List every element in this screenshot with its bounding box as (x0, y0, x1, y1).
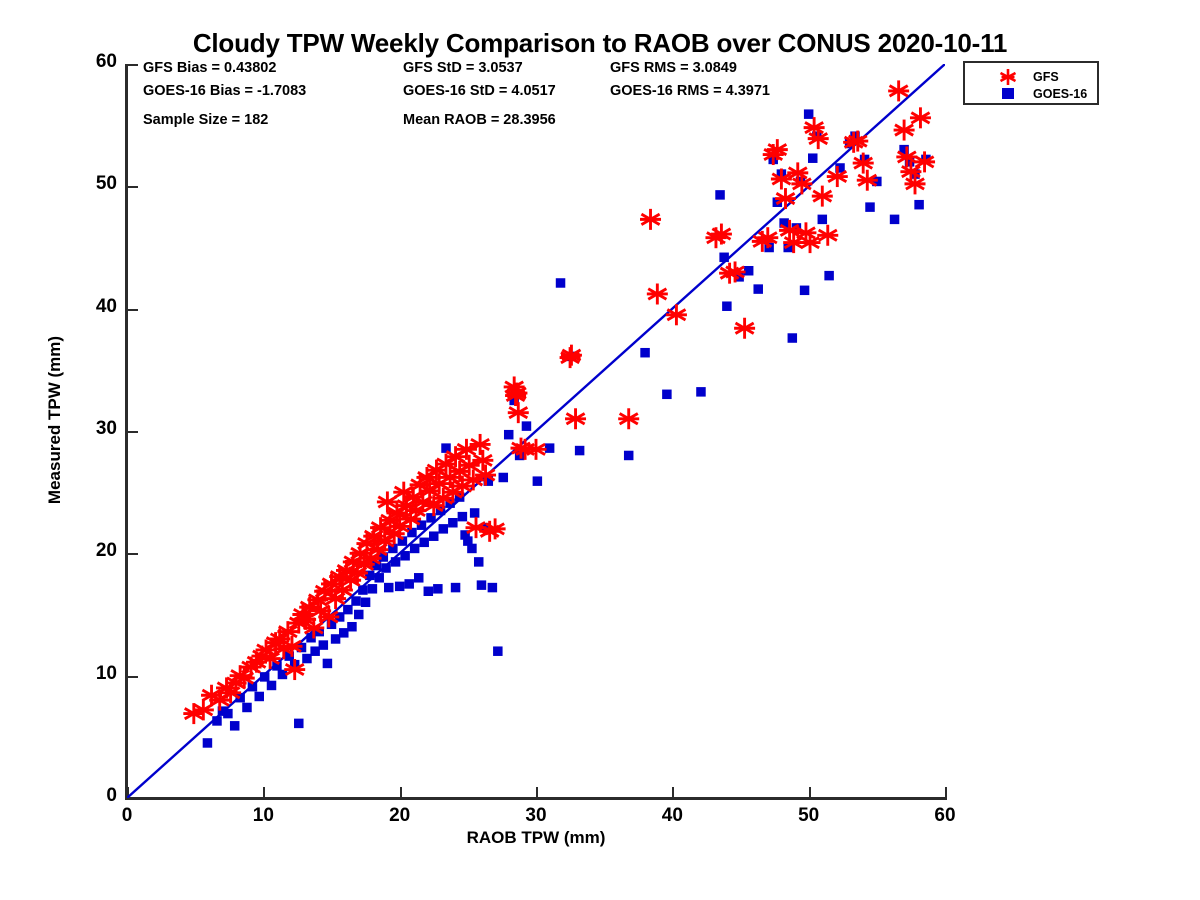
data-point-square (331, 634, 341, 644)
data-point-square (696, 387, 706, 397)
data-point-square (824, 271, 834, 281)
data-point-square (384, 583, 394, 593)
data-point-square (381, 563, 391, 573)
data-point-square (753, 284, 763, 294)
data-point-square (556, 278, 566, 288)
data-point-square (800, 286, 810, 296)
data-point-square (477, 580, 487, 590)
data-point-square (242, 703, 252, 713)
data-point-square (319, 640, 329, 650)
data-point-square (361, 598, 371, 608)
legend-marker-gfs (997, 67, 1019, 87)
data-point-square (448, 518, 458, 528)
data-point-square (294, 719, 304, 729)
y-tick-label: 0 (62, 785, 117, 807)
y-tick-label: 50 (62, 173, 117, 195)
data-point-square (715, 190, 725, 200)
data-point-square (368, 584, 378, 594)
data-point-square (722, 301, 732, 311)
y-axis-label: Measured TPW (mm) (45, 270, 65, 570)
data-point-square (439, 524, 449, 534)
data-point-square (624, 451, 634, 461)
data-point-square (414, 573, 424, 583)
data-point-square (499, 473, 509, 483)
data-point-square (719, 253, 729, 263)
chart-figure: Cloudy TPW Weekly Comparison to RAOB ove… (0, 0, 1200, 900)
chart-title: Cloudy TPW Weekly Comparison to RAOB ove… (0, 28, 1200, 59)
data-point-square (400, 551, 410, 561)
y-tick-label: 20 (62, 540, 117, 562)
data-point-square (458, 512, 468, 521)
data-point-square (410, 544, 420, 554)
data-point-square (351, 596, 361, 606)
data-point-square (212, 716, 222, 726)
data-point-square (358, 585, 368, 595)
data-point-square (424, 587, 434, 597)
x-tick-label: 30 (506, 805, 566, 827)
data-point-square (451, 583, 461, 593)
scatter-plot-canvas (127, 64, 945, 798)
legend-marker-goes16 (997, 86, 1019, 102)
x-tick-label: 50 (779, 805, 839, 827)
x-tick-label: 10 (233, 805, 293, 827)
data-point-square (223, 709, 233, 719)
data-point-square (395, 582, 405, 592)
data-point-square (354, 610, 364, 620)
x-tick (945, 787, 947, 798)
data-point-square (504, 430, 514, 440)
data-point-square (433, 584, 443, 594)
x-tick-label: 40 (642, 805, 702, 827)
data-point-square (788, 333, 798, 343)
data-point-square (254, 692, 264, 702)
data-point-square (522, 421, 532, 431)
data-point-square (323, 659, 333, 669)
data-point-square (533, 476, 543, 486)
x-tick-label: 20 (370, 805, 430, 827)
data-point-square (865, 202, 875, 212)
data-point-square (914, 200, 924, 210)
x-tick-label: 60 (915, 805, 975, 827)
data-point-square (662, 390, 672, 400)
y-tick-label: 30 (62, 418, 117, 440)
data-point-square (391, 557, 401, 567)
data-point-square (493, 646, 503, 656)
y-tick-label: 10 (62, 663, 117, 685)
data-point-square (347, 622, 357, 632)
y-tick-label: 40 (62, 296, 117, 318)
data-point-square (890, 215, 900, 225)
chart-legend: GFS GOES-16 (963, 61, 1099, 105)
data-point-square (343, 605, 353, 615)
series-gfs (183, 80, 935, 724)
data-point-square (804, 109, 814, 119)
data-point-square (474, 557, 484, 567)
data-point-square (419, 538, 429, 548)
data-point-square (260, 672, 270, 682)
data-point-square (374, 573, 384, 583)
data-point-square (230, 721, 240, 731)
data-point-square (267, 681, 277, 691)
y-tick-label: 60 (62, 51, 117, 73)
data-point-square (818, 215, 828, 225)
legend-label-gfs: GFS (1033, 70, 1059, 84)
x-axis-label: RAOB TPW (mm) (127, 828, 945, 848)
scatter-plot-area (127, 64, 945, 798)
data-point-square (467, 544, 477, 554)
data-point-square (470, 508, 480, 518)
x-tick-label: 0 (97, 805, 157, 827)
data-point-square (575, 446, 585, 456)
data-point-square (429, 531, 439, 541)
data-point-square (640, 348, 650, 358)
legend-label-goes16: GOES-16 (1033, 87, 1087, 101)
data-point-square (404, 579, 414, 589)
y-tick (127, 798, 138, 800)
data-point-square (808, 153, 818, 163)
data-point-square (310, 646, 320, 656)
data-point-square (339, 628, 349, 638)
data-point-square (302, 654, 312, 664)
data-point-square (488, 583, 498, 593)
data-point-square (203, 738, 213, 748)
